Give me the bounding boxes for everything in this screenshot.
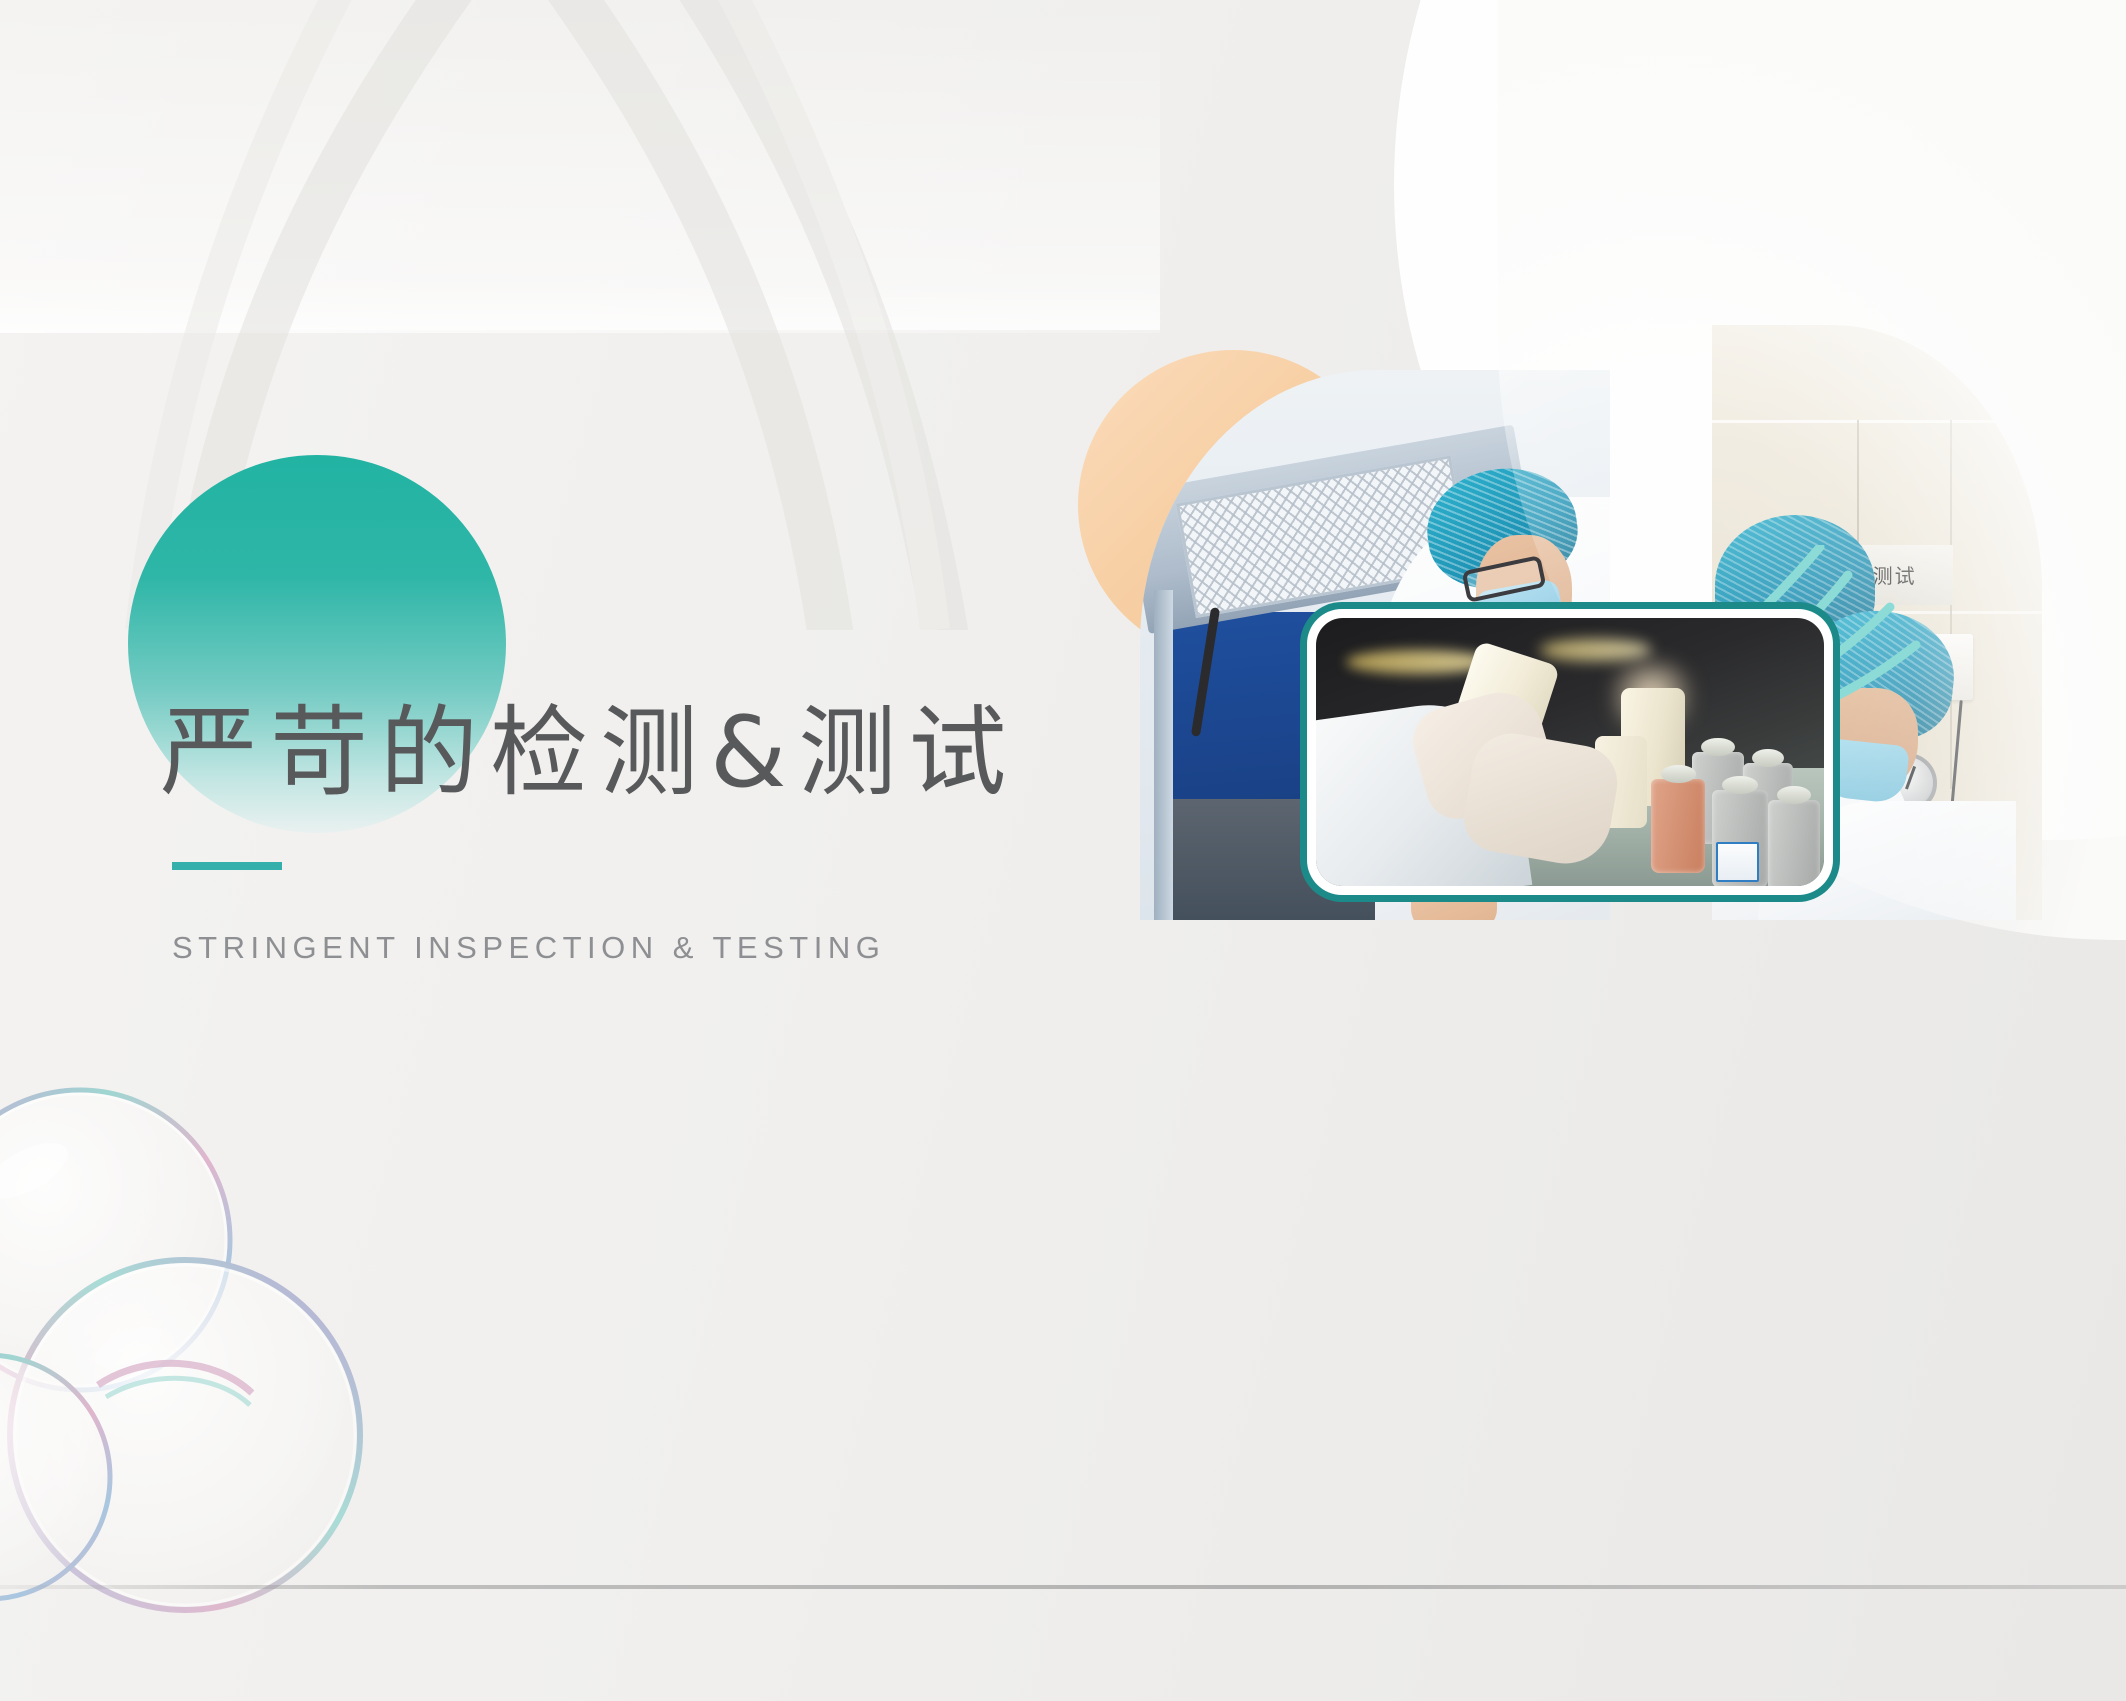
soap-bubbles xyxy=(0,1085,570,1645)
title-accent-bar xyxy=(172,862,282,870)
photo-center-image xyxy=(1316,618,1824,886)
scene-center xyxy=(1316,618,1824,886)
page-subtitle: STRINGENT INSPECTION & TESTING xyxy=(172,930,885,966)
page-title: 严苛的检测&测试 xyxy=(160,702,1018,805)
photo-inner-frame xyxy=(1307,609,1833,895)
photo-collage: Technician in blue hairnet at blue test … xyxy=(1100,330,2126,1230)
slide-root: 严苛的检测&测试 STRINGENT INSPECTION & TESTING xyxy=(0,0,2126,1701)
photo-sample-inspection: Gloved hands holding white bottle beside… xyxy=(1300,602,1840,902)
floor-surface xyxy=(0,1589,2126,1701)
